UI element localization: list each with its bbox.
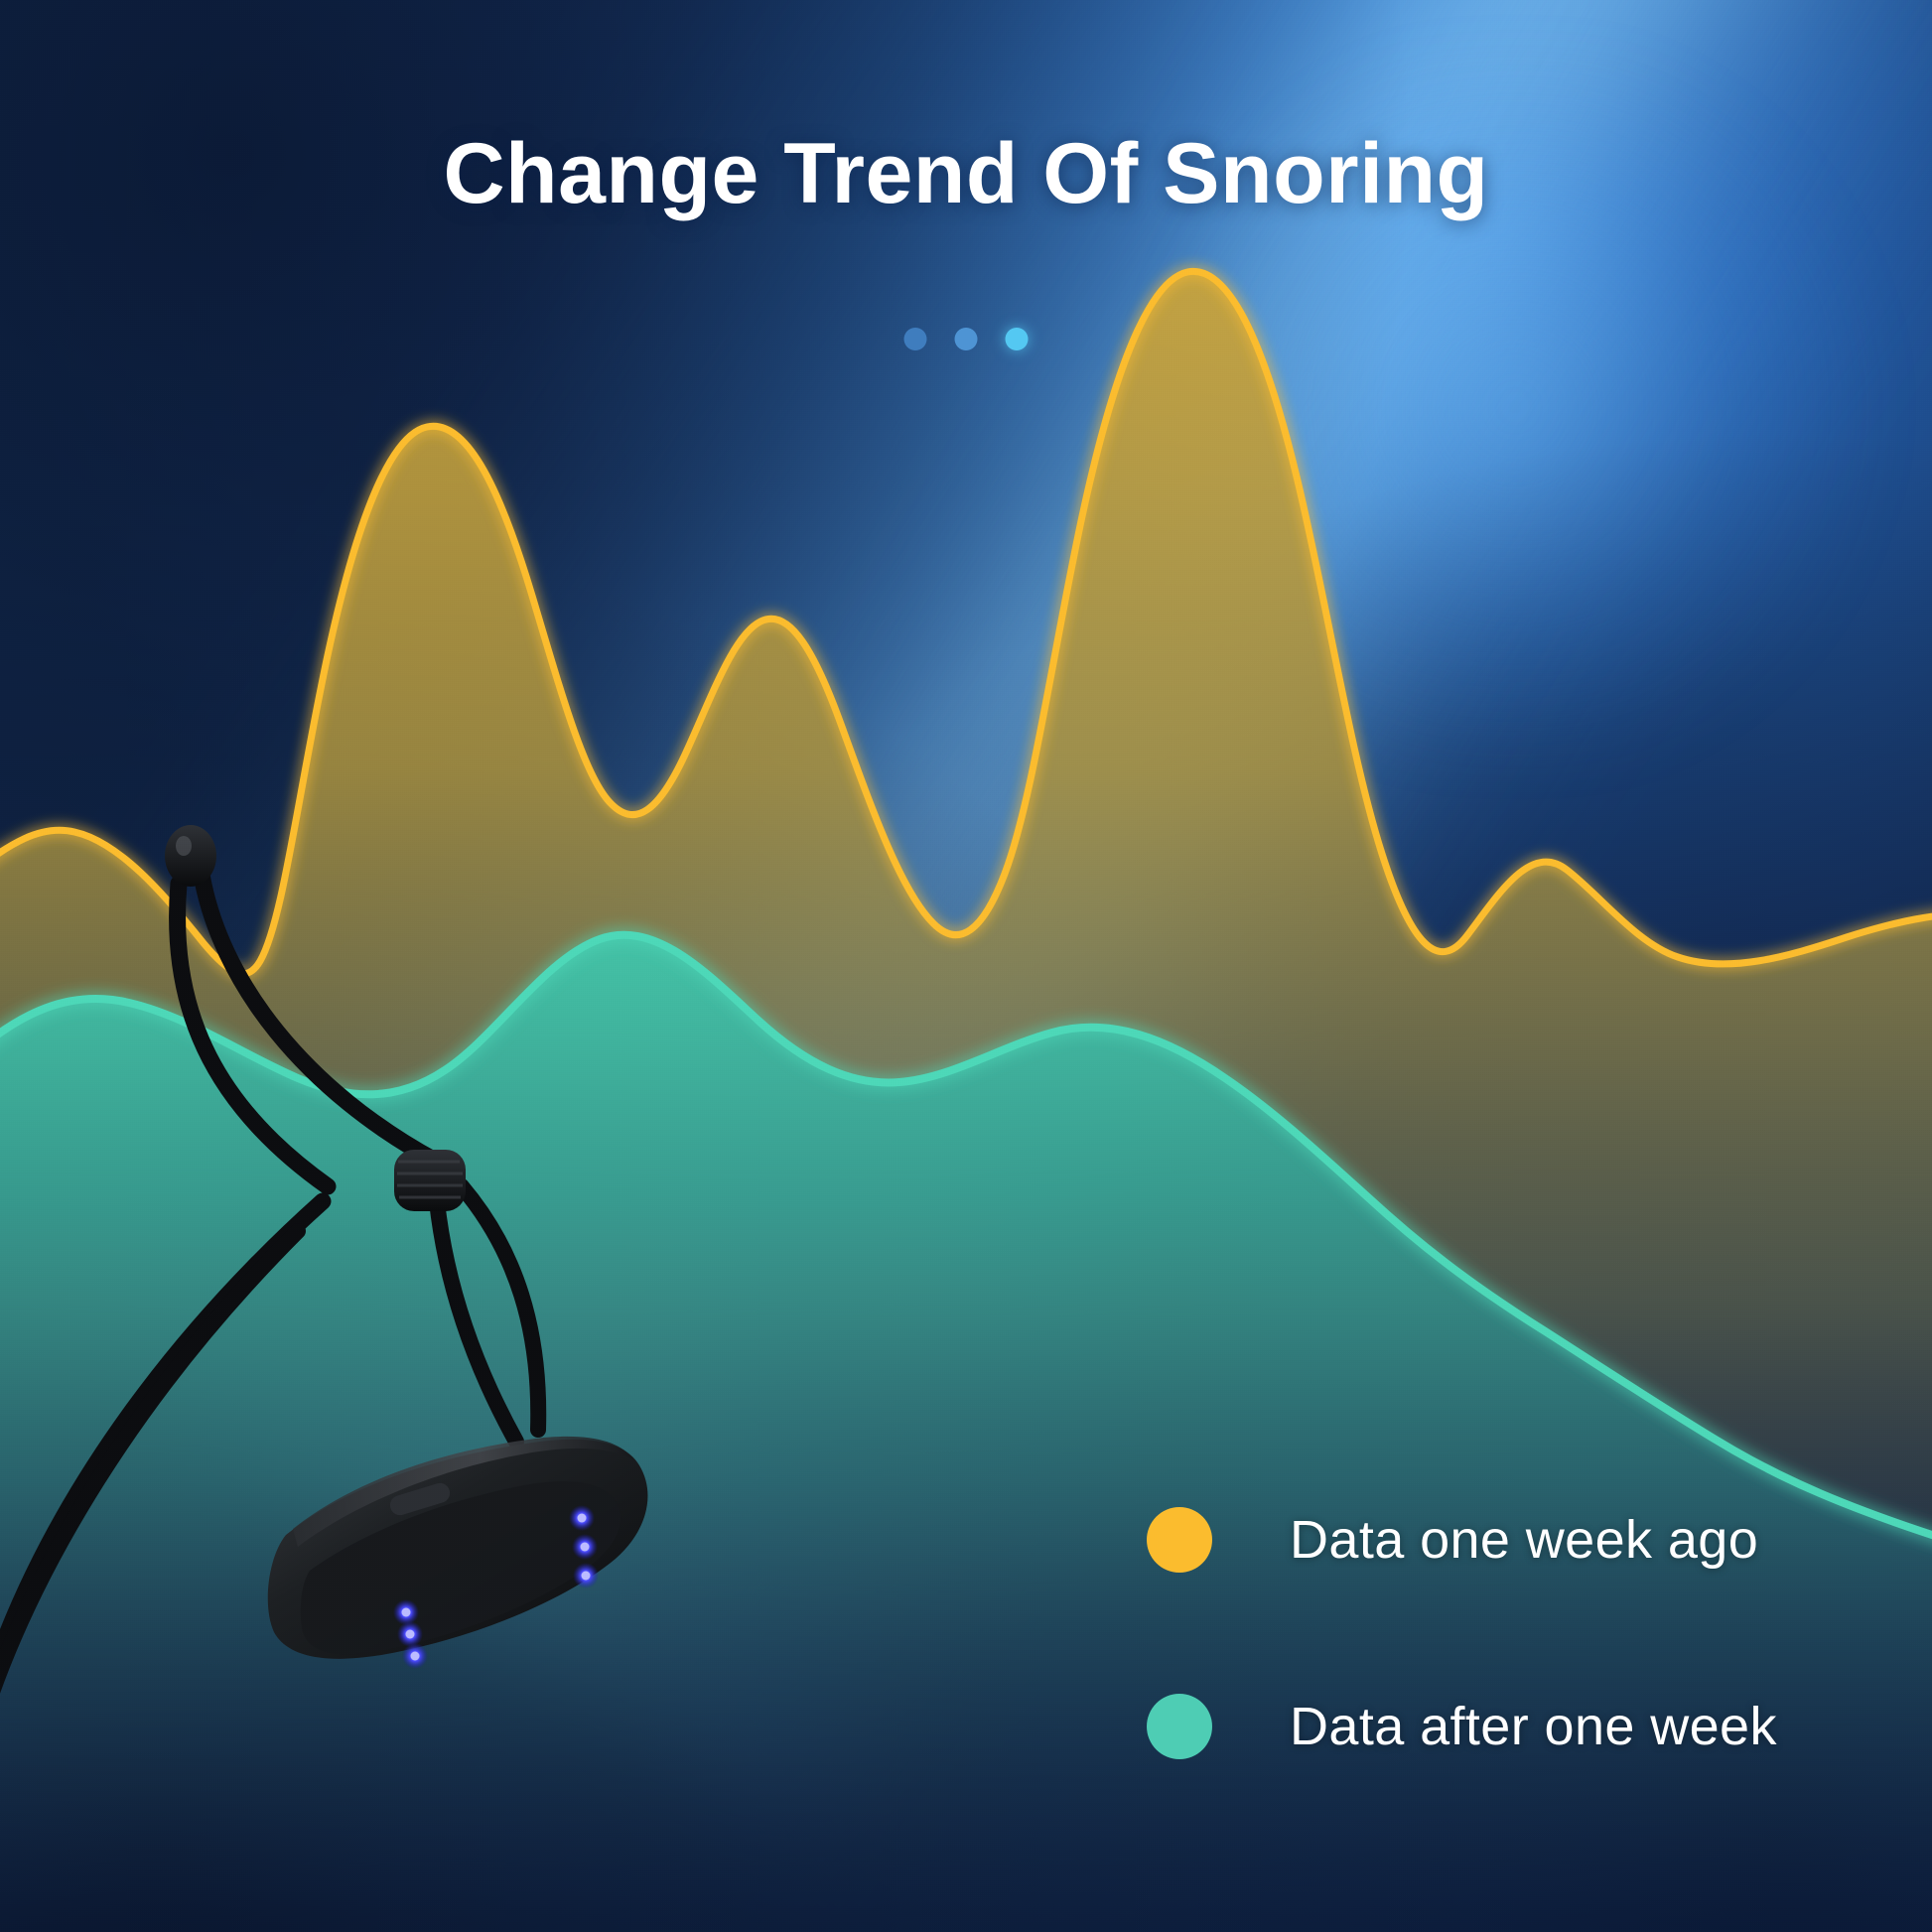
legend-item-one-week-ago[interactable]: Data one week ago: [1147, 1507, 1777, 1573]
pager-dot-2[interactable]: [955, 328, 978, 350]
legend-item-after-one-week[interactable]: Data after one week: [1147, 1694, 1777, 1759]
chart-legend: Data one week ago Data after one week: [1147, 1507, 1777, 1759]
snoring-trend-infographic: Change Trend Of Snoring Data one week ag…: [0, 0, 1932, 1932]
pager-dot-1[interactable]: [904, 328, 927, 350]
legend-swatch-yellow-icon: [1147, 1507, 1212, 1573]
legend-label-one-week-ago: Data one week ago: [1290, 1509, 1758, 1571]
series-yellow-line: [0, 271, 1932, 973]
legend-swatch-teal-icon: [1147, 1694, 1212, 1759]
pager-dots[interactable]: [904, 328, 1029, 350]
page-title: Change Trend Of Snoring: [0, 125, 1932, 223]
legend-label-after-one-week: Data after one week: [1290, 1696, 1777, 1757]
pager-dot-3-active[interactable]: [1006, 328, 1029, 350]
